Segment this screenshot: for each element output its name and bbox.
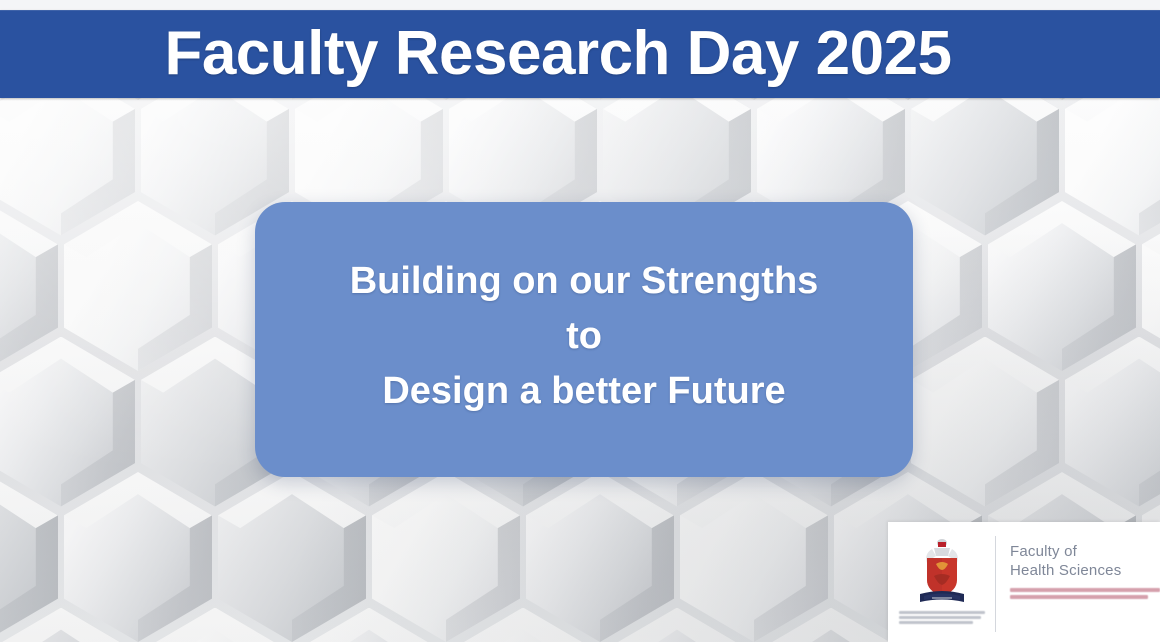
tagline-line-2: to: [566, 309, 602, 364]
faculty-tagline-line-1: [1010, 588, 1160, 592]
tagline-line-3: Design a better Future: [382, 364, 785, 419]
page-title: Faculty Research Day 2025: [0, 10, 1160, 98]
hexagon-tile: [911, 337, 1059, 507]
faculty-tagline: [1010, 588, 1160, 599]
header-banner: Faculty Research Day 2025: [0, 10, 1160, 98]
crest-column: [888, 532, 995, 624]
hexagon-tile: [680, 472, 828, 642]
faculty-name-line-2: Health Sciences: [1010, 561, 1160, 580]
faculty-tagline-line-2: [1010, 595, 1148, 599]
tagline-line-1: Building on our Strengths: [350, 254, 819, 309]
coat-of-arms-icon: [914, 536, 970, 608]
faculty-logo-card: Faculty of Health Sciences: [888, 522, 1160, 642]
hexagon-tile: [64, 472, 212, 642]
hexagon-tile: [0, 337, 135, 507]
top-edge-strip: [0, 0, 1160, 10]
legal-text-line-2: [899, 616, 981, 619]
hexagon-tile: [218, 472, 366, 642]
hexagon-tile: [1065, 337, 1160, 507]
hexagon-tile: [526, 472, 674, 642]
faculty-name-line-1: Faculty of: [1010, 542, 1160, 561]
poster-canvas: Faculty Research Day 2025 Building on ou…: [0, 0, 1160, 642]
faculty-text-column: Faculty of Health Sciences: [996, 532, 1160, 599]
legal-text-line-3: [899, 621, 973, 624]
institution-legal-text: [899, 611, 985, 624]
hexagon-tile: [372, 472, 520, 642]
tagline-card: Building on our Strengths to Design a be…: [255, 202, 913, 477]
hexagon-tile: [988, 201, 1136, 371]
legal-text-line-1: [899, 611, 985, 614]
hexagon-tile: [64, 201, 212, 371]
